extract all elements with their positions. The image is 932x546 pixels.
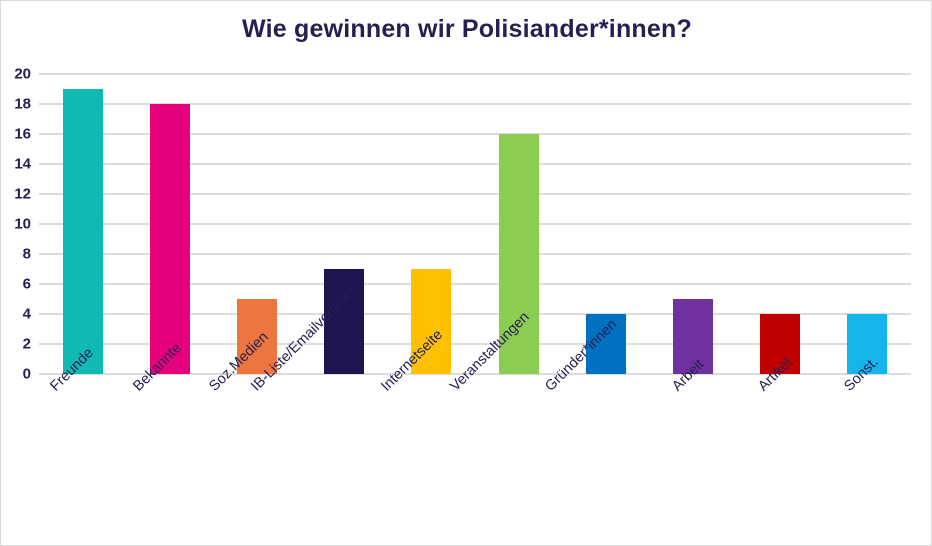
y-tick-label: 2 bbox=[1, 337, 31, 352]
y-tick-label: 10 bbox=[1, 217, 31, 232]
y-tick-label: 6 bbox=[1, 277, 31, 292]
y-tick-label: 14 bbox=[1, 157, 31, 172]
chart-title: Wie gewinnen wir Polisiander*innen? bbox=[1, 15, 932, 44]
y-axis: 20181614121086420 bbox=[1, 74, 31, 374]
y-tick-label: 18 bbox=[1, 97, 31, 112]
y-tick-label: 16 bbox=[1, 127, 31, 142]
y-tick-label: 0 bbox=[1, 367, 31, 382]
y-tick-label: 20 bbox=[1, 67, 31, 82]
y-tick-label: 12 bbox=[1, 187, 31, 202]
plot-area bbox=[39, 74, 911, 374]
y-tick-label: 4 bbox=[1, 307, 31, 322]
chart-container: Wie gewinnen wir Polisiander*innen? 2018… bbox=[0, 0, 932, 546]
gridline bbox=[39, 73, 911, 75]
bar[interactable] bbox=[150, 104, 190, 374]
x-axis: FreundeBekannteSoz.MedienIB-Liste/Emailv… bbox=[39, 374, 911, 494]
y-tick-label: 8 bbox=[1, 247, 31, 262]
bar[interactable] bbox=[63, 89, 103, 374]
